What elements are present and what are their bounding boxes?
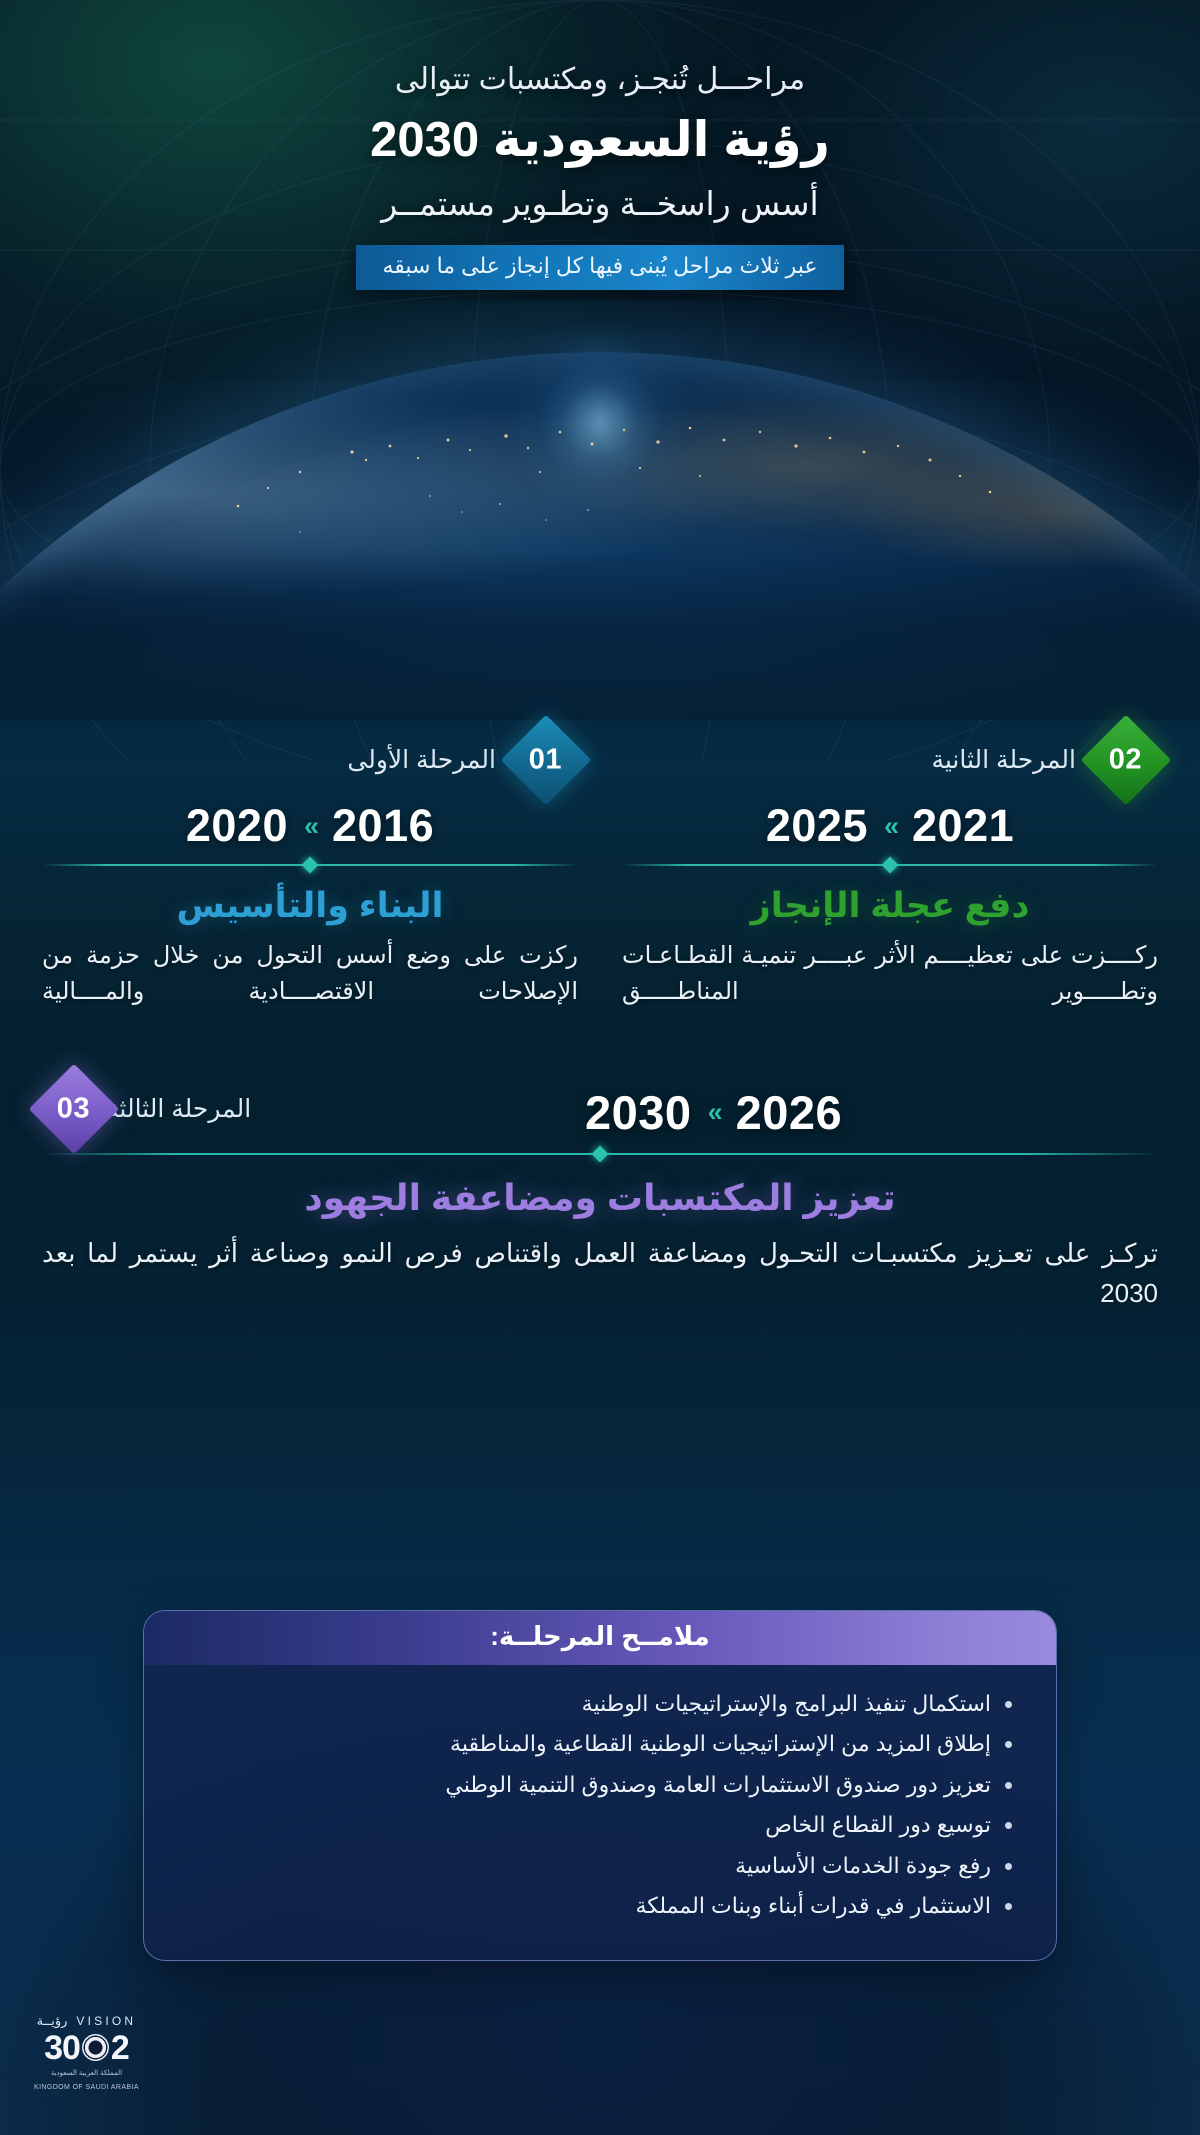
phase-number-01: 01	[529, 744, 562, 777]
phase-year-end-01: 2020	[186, 800, 288, 852]
phase-divider-01	[42, 864, 578, 866]
phase-year-end-02: 2025	[766, 800, 868, 852]
phase-number-03: 03	[57, 1092, 90, 1125]
bullet-dot-icon	[1005, 1741, 1012, 1748]
infographic-poster: مراحـــل تُنجـز، ومكتسبات تتوالى رؤية ال…	[0, 0, 1200, 2135]
header-tagline-pill: عبر ثلاث مراحل يُبنى فيها كل إنجاز على م…	[356, 245, 843, 290]
phase-year-end-03: 2030	[585, 1085, 692, 1140]
earth-fade	[0, 550, 1200, 720]
phase-title-03: تعزيز المكتسبات ومضاعفة الجهود	[42, 1177, 1158, 1219]
list-item-label: توسيع دور القطاع الخاص	[188, 1808, 991, 1841]
phase-number-badge-01: 01	[501, 715, 592, 806]
list-item-label: استكمال تنفيذ البرامج والإستراتيجيات الو…	[188, 1687, 991, 1720]
logo-num-right: 30	[44, 2031, 80, 2065]
list-item-label: الاستثمار في قدرات أبناء وبنات المملكة	[188, 1889, 991, 1922]
phase-years-01: 2020 « 2016	[42, 800, 578, 852]
phases-section: 02 المرحلة الثانية 2025 « 2021 دفع عجلة …	[0, 728, 1200, 1314]
logo-num-left: 2	[111, 2031, 129, 2065]
arrow-icon: «	[884, 811, 896, 842]
logo-subtitle-en: KINGDOM OF SAUDI ARABIA	[34, 2083, 139, 2093]
logo-vision-text: VISION	[76, 2014, 136, 2028]
phase-name-01: المرحلة الأولى	[347, 745, 514, 775]
bullet-dot-icon	[1005, 1863, 1012, 1870]
page-title: رؤية السعودية 2030	[0, 111, 1200, 168]
phase-number-badge-02: 02	[1081, 715, 1172, 806]
phase-title-02: دفع عجلة الإنجاز	[622, 886, 1158, 926]
logo-number-row: 2 30	[34, 2031, 139, 2065]
list-item-label: رفع جودة الخدمات الأساسية	[188, 1849, 991, 1882]
phase-number-02: 02	[1109, 744, 1142, 777]
phase-divider-02	[622, 864, 1158, 866]
list-item: تعزيز دور صندوق الاستثمارات العامة وصندو…	[188, 1768, 1012, 1801]
bullet-dot-icon	[1005, 1822, 1012, 1829]
bullet-dot-icon	[1005, 1701, 1012, 1708]
list-item-label: تعزيز دور صندوق الاستثمارات العامة وصندو…	[188, 1768, 991, 1801]
list-item: رفع جودة الخدمات الأساسية	[188, 1849, 1012, 1882]
phase-year-start-03: 2026	[736, 1085, 843, 1140]
phase-year-start-02: 2021	[912, 800, 1014, 852]
phase-years-wrap-03: 2030 « 2026	[269, 1077, 1158, 1140]
list-item-label: إطلاق المزيد من الإستراتيجيات الوطنية ال…	[188, 1727, 991, 1760]
list-item: الاستثمار في قدرات أبناء وبنات المملكة	[188, 1889, 1012, 1922]
features-list: استكمال تنفيذ البرامج والإستراتيجيات الو…	[144, 1665, 1056, 1960]
list-item: إطلاق المزيد من الإستراتيجيات الوطنية ال…	[188, 1727, 1012, 1760]
phase-card-03: 2030 « 2026 المرحلة الثالثة 03 تعزيز الم…	[42, 1077, 1158, 1314]
bullet-dot-icon	[1005, 1782, 1012, 1789]
phase-body-03: تركـز على تعـزيز مكتسبـات التحـول ومضاعف…	[42, 1233, 1158, 1314]
phase-years-02: 2025 « 2021	[622, 800, 1158, 852]
logo-arabic-text: رؤيــة	[37, 2013, 68, 2029]
vision-2030-logo: VISION رؤيــة 2 30 المملكة العربية السعو…	[34, 2013, 139, 2093]
phase-body-02: ركــــزت على تعظيــــم الأثر عبــــر تنم…	[622, 938, 1158, 1011]
phase-body-01: ركزت على وضع أسس التحول من خلال حزمة من …	[42, 938, 578, 1011]
phase-title-01: البناء والتأسيس	[42, 886, 578, 926]
list-item: استكمال تنفيذ البرامج والإستراتيجيات الو…	[188, 1687, 1012, 1720]
phases-row-top: 02 المرحلة الثانية 2025 « 2021 دفع عجلة …	[42, 728, 1158, 1011]
earth-image	[0, 300, 1200, 720]
features-heading: ملامــح المرحلــة:	[144, 1611, 1056, 1665]
phase-years-03: 2030 « 2026	[585, 1085, 842, 1140]
header-subtitle: أسس راسخــة وتطـوير مستمــر	[0, 184, 1200, 223]
saudi-emblem-icon	[82, 2034, 109, 2061]
phase-card-01: 01 المرحلة الأولى 2020 « 2016 البناء وال…	[42, 728, 578, 1011]
logo-subtitle-ar: المملكة العربية السعودية	[34, 2069, 139, 2079]
phase-03-head: 2030 « 2026 المرحلة الثالثة 03	[42, 1077, 1158, 1141]
phase-year-start-01: 2016	[332, 800, 434, 852]
list-item: توسيع دور القطاع الخاص	[188, 1808, 1012, 1841]
bullet-dot-icon	[1005, 1903, 1012, 1910]
logo-top-row: VISION رؤيــة	[34, 2013, 139, 2029]
poster-header: مراحـــل تُنجـز، ومكتسبات تتوالى رؤية ال…	[0, 0, 1200, 290]
phase-divider-03	[42, 1153, 1158, 1155]
arrow-icon: «	[304, 811, 316, 842]
phase-name-02: المرحلة الثانية	[931, 745, 1094, 775]
phase-01-head: 01 المرحلة الأولى	[42, 728, 578, 792]
phase-name-03: المرحلة الثالثة	[106, 1094, 269, 1124]
phases-row-bottom: 2030 « 2026 المرحلة الثالثة 03 تعزيز الم…	[42, 1077, 1158, 1314]
phase-02-head: 02 المرحلة الثانية	[622, 728, 1158, 792]
phase-card-02: 02 المرحلة الثانية 2025 « 2021 دفع عجلة …	[622, 728, 1158, 1011]
phase-number-badge-03: 03	[29, 1064, 120, 1155]
header-kicker: مراحـــل تُنجـز، ومكتسبات تتوالى	[0, 62, 1200, 97]
features-card: ملامــح المرحلــة: استكمال تنفيذ البرامج…	[143, 1610, 1057, 1961]
arrow-icon: «	[708, 1097, 720, 1128]
